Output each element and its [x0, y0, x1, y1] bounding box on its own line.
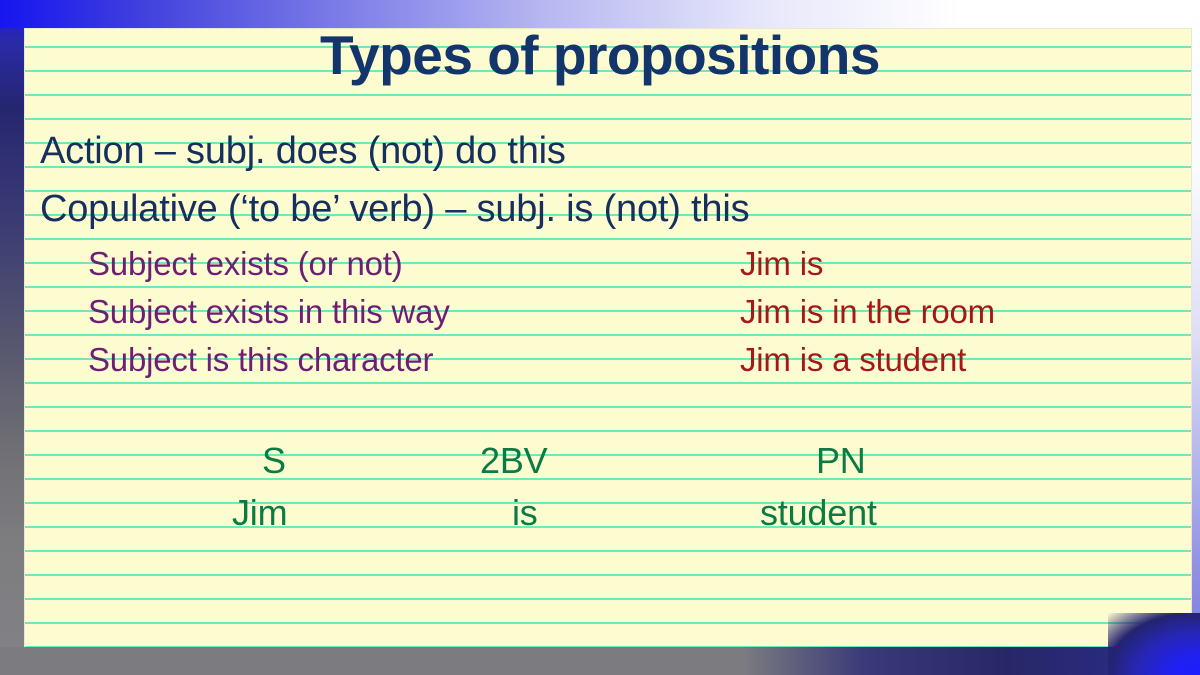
- example-description-1: Subject exists (or not): [88, 247, 403, 280]
- parse-label-predicate-nominative: PN: [816, 443, 866, 479]
- bullet-action: Action – subj. does (not) do this: [40, 132, 566, 170]
- example-sentence-3: Jim is a student: [740, 343, 966, 376]
- example-sentence-2: Jim is in the room: [740, 295, 995, 328]
- example-description-3: Subject is this character: [88, 343, 433, 376]
- parse-word-tobe-verb: is: [512, 495, 538, 531]
- frame-bottom-border: [0, 647, 1200, 675]
- example-sentence-1: Jim is: [740, 247, 823, 280]
- parse-word-subject: Jim: [232, 495, 287, 531]
- bullet-copulative: Copulative (‘to be’ verb) – subj. is (no…: [40, 190, 749, 228]
- page-title: Types of propositions: [0, 28, 1200, 83]
- parse-label-tobe-verb: 2BV: [480, 443, 547, 479]
- frame-top-border: [0, 0, 1200, 28]
- ruled-paper-background: [24, 28, 1192, 652]
- parse-word-predicate-nominative: student: [760, 495, 877, 531]
- example-description-2: Subject exists in this way: [88, 295, 450, 328]
- frame-corner-accent: [1108, 613, 1200, 675]
- parse-label-subject: S: [262, 443, 286, 479]
- frame-right-border: [1192, 0, 1200, 652]
- slide-canvas: Types of propositions Action – subj. doe…: [0, 0, 1200, 675]
- frame-left-border: [0, 0, 24, 675]
